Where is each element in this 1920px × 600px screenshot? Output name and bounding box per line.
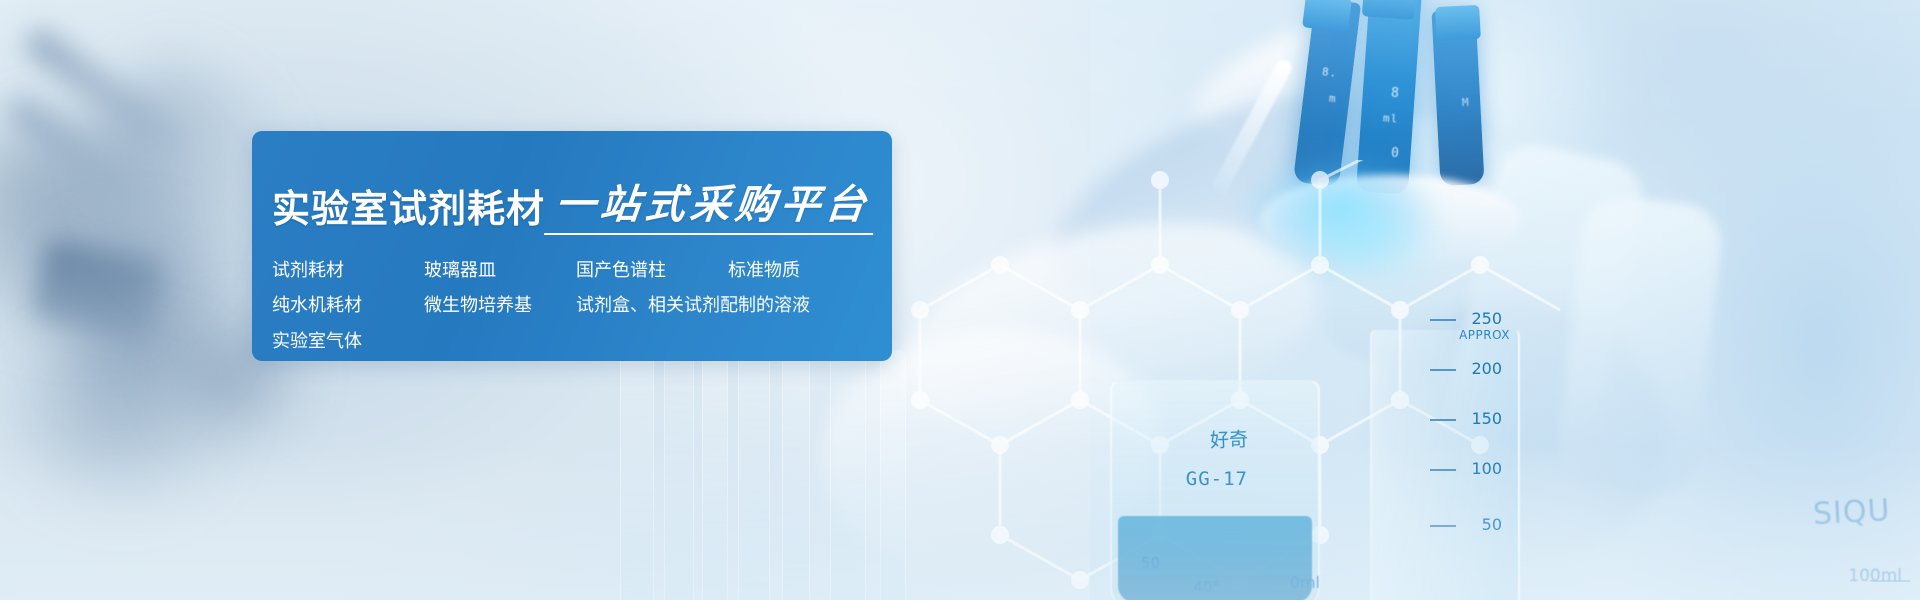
category-row: 纯水机耗材 微生物培养基 试剂盒、相关试剂配制的溶液 — [272, 294, 892, 317]
headline-main-text: 实验室试剂耗材 — [272, 191, 545, 229]
category-item[interactable]: 纯水机耗材 — [272, 294, 424, 317]
category-item[interactable]: 国产色谱柱 — [576, 259, 728, 282]
category-row: 实验室气体 — [272, 330, 892, 353]
category-item[interactable]: 玻璃器皿 — [424, 259, 576, 282]
category-row: 试剂耗材 玻璃器皿 国产色谱柱 标准物质 — [272, 259, 892, 282]
headline-script-text: 一站式采购平台 — [553, 185, 873, 229]
category-list: 试剂耗材 玻璃器皿 国产色谱柱 标准物质 纯水机耗材 微生物培养基 试剂盒、相关… — [252, 229, 892, 353]
category-item[interactable]: 试剂耗材 — [272, 259, 424, 282]
category-item[interactable]: 微生物培养基 — [424, 294, 576, 317]
headline: 实验室试剂耗材 一站式采购平台 — [252, 169, 892, 229]
promo-panel: 实验室试剂耗材 一站式采购平台 试剂耗材 玻璃器皿 国产色谱柱 标准物质 纯水机… — [252, 131, 892, 361]
category-item[interactable]: 实验室气体 — [272, 330, 424, 353]
headline-underline — [544, 233, 873, 235]
headline-script-label: 一站式采购平台 — [553, 181, 873, 228]
promo-banner: 8. m 8 ml 0 M — [0, 0, 1920, 600]
